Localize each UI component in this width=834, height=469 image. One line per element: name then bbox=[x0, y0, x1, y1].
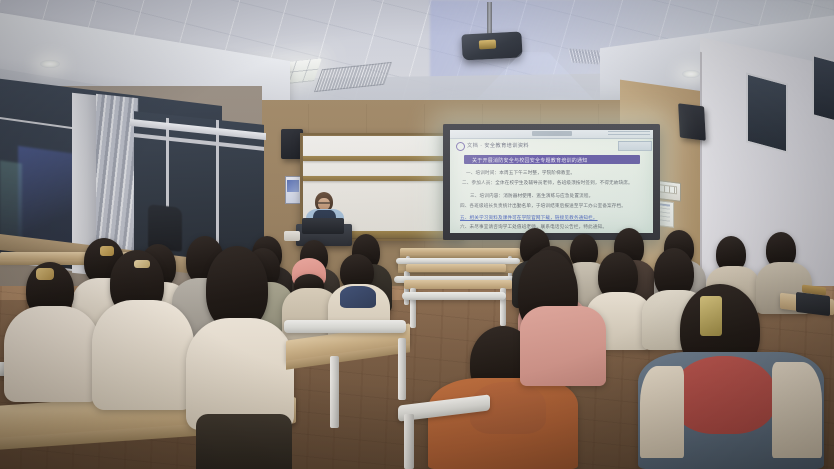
jacket-navy-panel bbox=[340, 286, 376, 308]
document-body-line: 二、参加人员：全体在校学生及辅导员老师，各班级须按时签到，不得无故缺席。 bbox=[462, 180, 633, 186]
podium-items bbox=[284, 231, 300, 241]
document-body-line: 四、各班级班长负责统计出勤名单，于培训结束后报送至学工办公室备案存档。 bbox=[460, 203, 626, 209]
tablet-icon[interactable] bbox=[796, 292, 830, 316]
student-body bbox=[92, 300, 194, 410]
right-wall-window bbox=[746, 72, 788, 153]
right-wall-window-far bbox=[812, 54, 834, 124]
desk-leg bbox=[398, 338, 406, 400]
hair-clip-icon bbox=[100, 246, 114, 256]
desk-empty bbox=[404, 280, 512, 289]
window-reflection bbox=[18, 146, 78, 250]
presenter-glasses-icon bbox=[318, 202, 330, 204]
projector-lens-icon bbox=[479, 40, 496, 50]
window-reflection-teal bbox=[0, 160, 22, 239]
desk-empty bbox=[406, 264, 506, 272]
desk-leg bbox=[330, 356, 339, 428]
classroom-photo: 文档 · 安全教育培训资料 关于开展消防安全与校园安全专题教育培训的通知 一、培… bbox=[0, 0, 834, 469]
wall-speaker-icon bbox=[678, 103, 706, 140]
blue-wall-poster-graphic bbox=[287, 180, 299, 192]
document-logo-icon bbox=[456, 142, 465, 151]
chair-leg bbox=[404, 414, 414, 469]
projection-screen[interactable]: 文档 · 安全教育培训资料 关于开展消防安全与校园安全专题教育培训的通知 一、培… bbox=[450, 130, 653, 233]
document-body-line: 一、培训时间：本周五下午三时整，学院阶梯教室。 bbox=[466, 170, 575, 176]
document-banner-title: 关于开展消防安全与校园安全专题教育培训的通知 bbox=[472, 157, 588, 164]
whiteboard-rail bbox=[303, 156, 457, 161]
student-body bbox=[520, 306, 606, 386]
chair-back bbox=[284, 320, 406, 333]
document-app-title: 文档 · 安全教育培训资料 bbox=[467, 142, 529, 149]
hair-clip-icon bbox=[134, 260, 150, 268]
document-link-line[interactable]: 五、相关学习资料及课件可在学院官网下载，链接见教务通知栏。 bbox=[460, 215, 598, 221]
jacket-cream-trim-right bbox=[772, 362, 822, 458]
jacket-cream-trim-left bbox=[640, 366, 684, 458]
downlight-icon bbox=[40, 60, 60, 68]
document-body-line: 三、培训内容：消防器材使用、逃生演练与应急处置流程。 bbox=[470, 193, 593, 199]
projector-mount-pole bbox=[487, 2, 492, 36]
gold-hair-clip-icon bbox=[700, 296, 722, 336]
document-viewer-tab bbox=[532, 131, 572, 136]
laptop-icon[interactable] bbox=[302, 218, 344, 234]
document-thumbnail-panel bbox=[618, 141, 652, 151]
chair-back bbox=[402, 292, 506, 300]
document-viewer-toolbar-right bbox=[608, 131, 650, 137]
jacket-hood-red bbox=[672, 356, 776, 434]
hair-clip-icon bbox=[36, 268, 54, 280]
student-body bbox=[4, 306, 100, 402]
whiteboard-rail bbox=[303, 176, 457, 181]
student-lower-body bbox=[196, 414, 292, 469]
downlight-icon bbox=[682, 70, 700, 78]
